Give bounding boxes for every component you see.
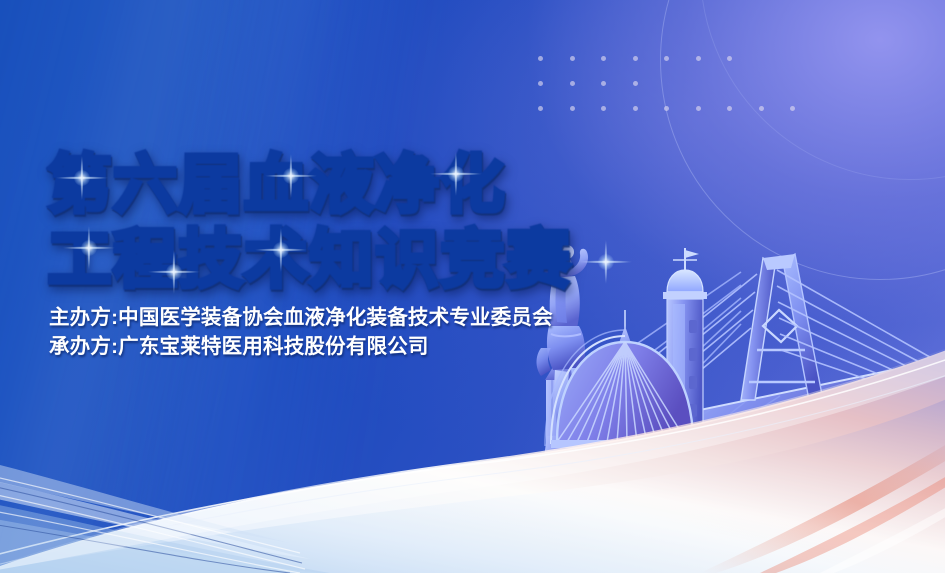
grid-dot [664,56,669,61]
grid-dot [790,106,795,111]
poster-banner: 第六届血液净化 工程技术知识竞赛 主办方:中国医学装备协会血液净化装备技术专业委… [0,0,945,573]
twin-towers [537,282,649,494]
decorative-circle-outline [660,0,945,280]
grid-dot [601,81,606,86]
event-title: 第六届血液净化 工程技术知识竞赛 [48,148,572,298]
organizer-line: 主办方:中国医学装备协会血液净化装备技术专业委员会 [49,303,553,332]
lighthouse-tower [653,248,717,493]
grid-dot [759,106,764,111]
bridge-pylon [741,254,823,400]
grid-dot [601,56,606,61]
grid-dot [538,56,543,61]
grid-dot [538,81,543,86]
opera-house-dome [545,330,699,448]
grid-dot [538,106,543,111]
grid-dot [570,106,575,111]
grid-dot [727,106,732,111]
dot-grid-decoration [538,56,795,131]
grid-dot [570,56,575,61]
dot-grid-row [538,81,795,86]
grid-dot [633,106,638,111]
grid-dot [633,56,638,61]
bridge-group [623,254,945,462]
decorative-circle-outline-secondary [700,0,945,180]
grid-dot [633,81,638,86]
grid-dot [696,56,701,61]
dot-grid-row [538,56,795,61]
title-line-2: 工程技术知识竞赛 [48,223,572,298]
co-organizer-line: 承办方:广东宝莱特医用科技股份有限公司 [49,332,553,361]
title-line-1: 第六届血液净化 [48,148,572,223]
sparkle-glint-icon [580,236,632,288]
dot-grid-row [538,106,795,111]
grid-dot [601,106,606,111]
grid-dot [727,56,732,61]
grid-dot [570,81,575,86]
grid-dot [696,106,701,111]
organizer-info: 主办方:中国医学装备协会血液净化装备技术专业委员会 承办方:广东宝莱特医用科技股… [49,303,553,361]
grid-dot [664,106,669,111]
